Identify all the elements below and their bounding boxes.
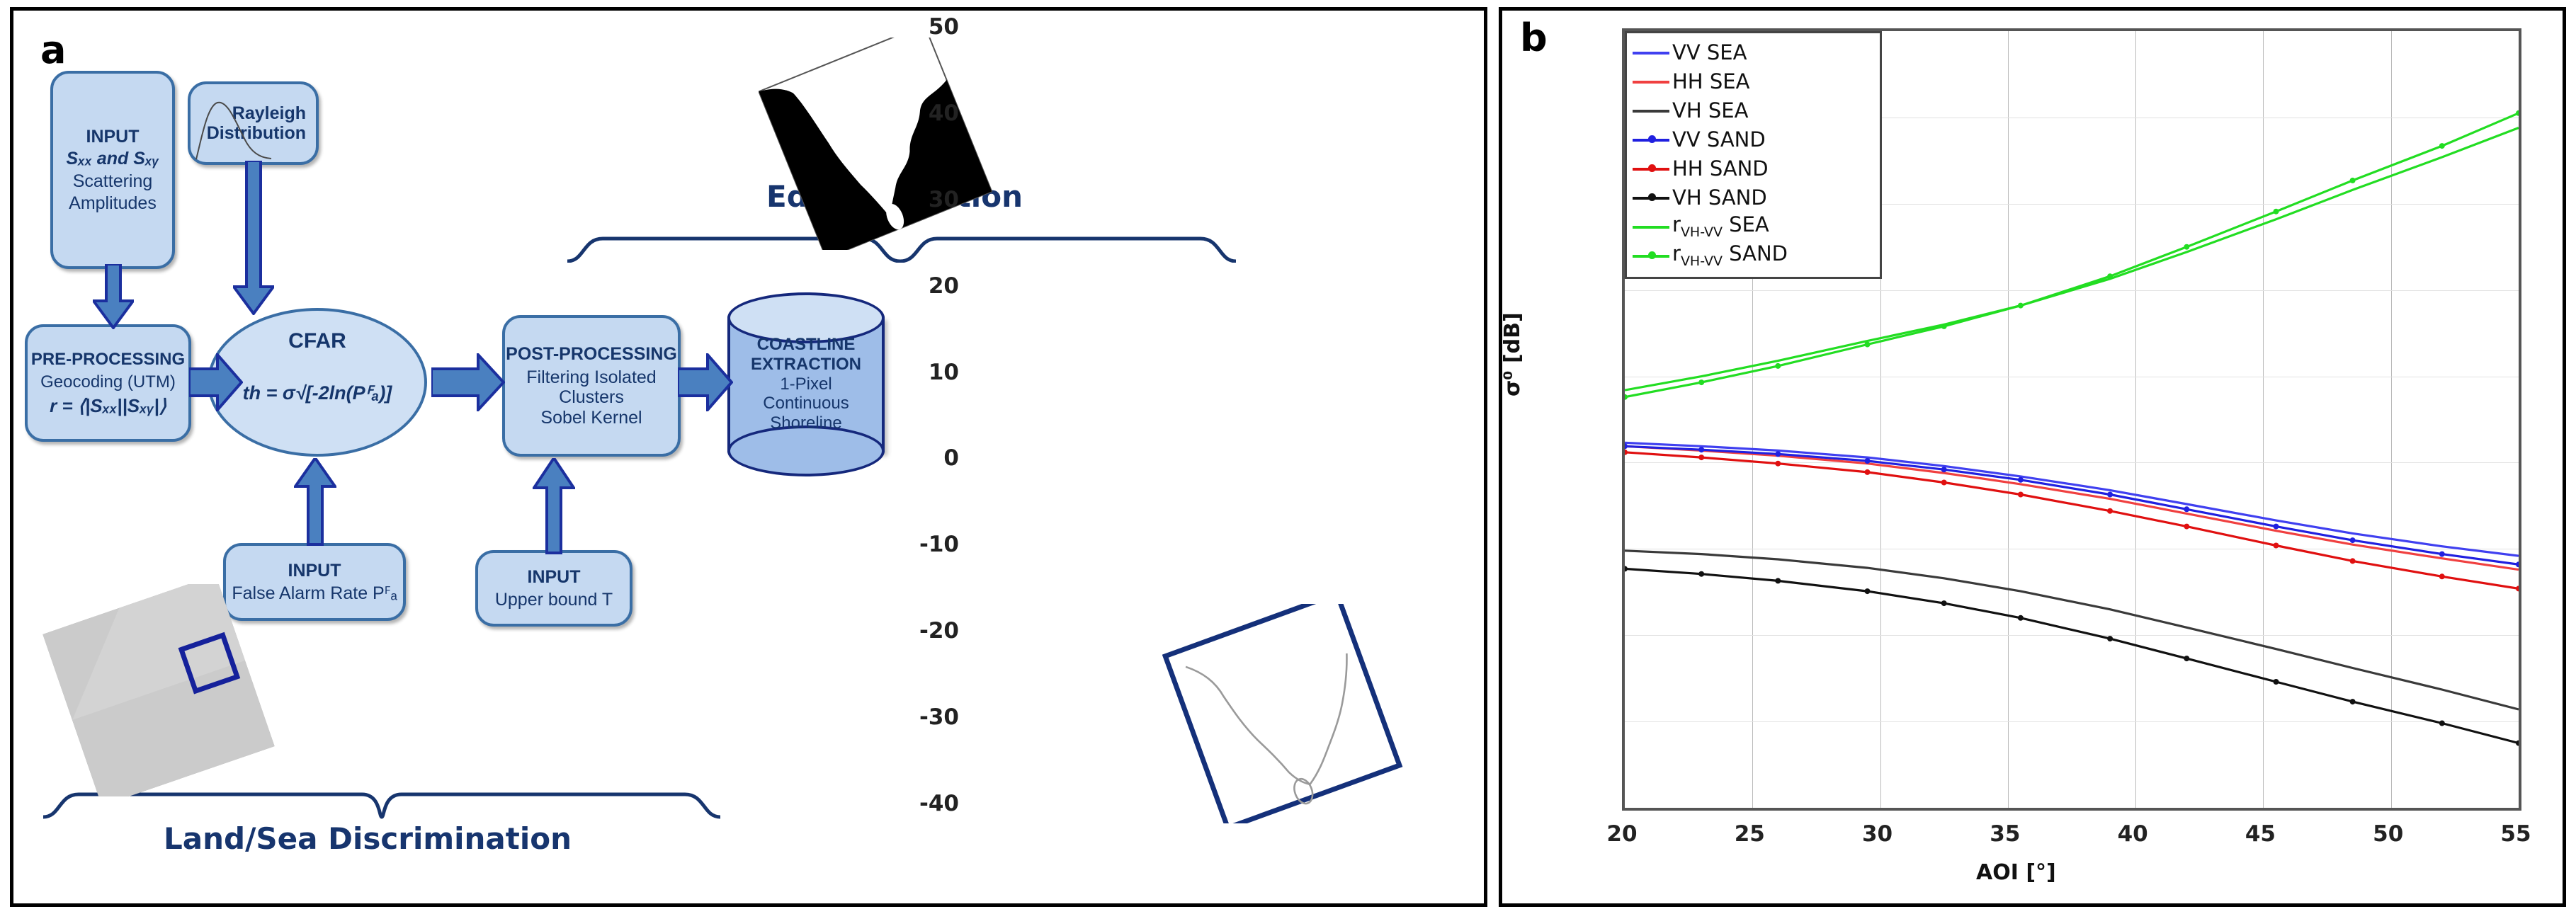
series-line — [1625, 446, 2519, 564]
box-post-processing: POST-PROCESSING Filtering Isolated Clust… — [502, 315, 681, 457]
series-marker — [1941, 480, 1947, 486]
legend-swatch — [1633, 219, 1669, 234]
y-tick-label: 10 — [895, 360, 959, 385]
series-marker — [2018, 492, 2024, 498]
legend-item[interactable]: rVH-VV SAND — [1633, 241, 1880, 270]
figure-root: a INPUT Sₓₓ and Sₓᵧ Scattering Amplitude… — [0, 0, 2576, 914]
chart-legend: VV SEAHH SEAVH SEAVV SANDHH SANDVH SANDr… — [1625, 31, 1882, 279]
series-marker — [1775, 578, 1781, 583]
series-marker — [2184, 244, 2189, 250]
legend-label: HH SEA — [1672, 69, 1749, 93]
series-marker — [2018, 477, 2024, 483]
series-marker — [2018, 303, 2024, 309]
legend-label: VH SAND — [1672, 185, 1767, 210]
coastline-line4: Continuous — [727, 394, 885, 413]
series-line — [1625, 452, 2519, 589]
series-marker — [2350, 699, 2356, 704]
series-marker — [1625, 443, 1628, 449]
x-tick-label: 40 — [2104, 821, 2161, 847]
panel-b-letter: b — [1520, 16, 1548, 60]
box-input-upper-bound: INPUT Upper bound T — [475, 550, 632, 627]
arrow-right-postprocessing-to-coastline — [678, 353, 733, 411]
series-marker — [1865, 469, 1871, 475]
series-marker — [2350, 537, 2356, 543]
box-rayleigh-distribution: Rayleigh Distribution — [188, 81, 319, 165]
input-upper-line2: Upper bound T — [495, 590, 613, 610]
legend-swatch — [1633, 103, 1669, 118]
coastline-line3: 1-Pixel — [727, 375, 885, 394]
box-pre-processing: PRE-PROCESSING Geocoding (UTM) r = ⟨|Sₓₓ… — [25, 324, 191, 442]
coastline-title1: COASTLINE — [727, 335, 885, 355]
coastline-line5: Shoreline — [727, 413, 885, 433]
series-marker — [2439, 552, 2445, 557]
legend-swatch — [1633, 74, 1669, 88]
legend-label: VV SEA — [1672, 40, 1747, 64]
series-marker — [2274, 679, 2279, 685]
panel-a: a INPUT Sₓₓ and Sₓᵧ Scattering Amplitude… — [10, 7, 1487, 907]
arrow-down-rayleigh-to-cfar — [233, 161, 274, 315]
legend-label: rVH-VV SAND — [1672, 241, 1788, 269]
series-marker — [1775, 451, 1781, 457]
series-marker — [2350, 558, 2356, 564]
coastline-title2: EXTRACTION — [727, 355, 885, 375]
series-marker — [2516, 741, 2519, 746]
series-marker — [1625, 450, 1628, 455]
y-tick-label: 0 — [895, 445, 959, 471]
legend-label: VH SEA — [1672, 98, 1748, 122]
arrow-down-input-to-preprocessing — [93, 264, 134, 329]
post-processing-line2: Filtering Isolated — [526, 367, 656, 388]
series-marker — [2274, 543, 2279, 549]
series-marker — [2018, 615, 2024, 621]
panel-a-letter: a — [40, 28, 66, 72]
input-amplitudes-title: INPUT — [86, 127, 140, 147]
series-marker — [1775, 461, 1781, 467]
chart-x-axis-label: AOI [°] — [1976, 860, 2056, 885]
series-line — [1625, 442, 2519, 556]
legend-item[interactable]: VH SAND — [1633, 183, 1880, 212]
series-line — [1625, 446, 2519, 569]
extracted-shoreline-image — [1162, 604, 1403, 823]
y-tick-label: -30 — [895, 704, 959, 730]
series-marker — [1698, 571, 1704, 577]
brace-label-land-sea: Land/Sea Discrimination — [164, 821, 572, 856]
arrow-right-cfar-to-postprocessing — [431, 353, 505, 411]
legend-swatch — [1633, 161, 1669, 176]
arrow-right-preprocessing-to-cfar — [189, 353, 243, 411]
series-marker — [2184, 524, 2189, 530]
chart-y-axis-label: σ⁰ [dB] — [1500, 312, 1525, 396]
series-marker — [2516, 561, 2519, 567]
legend-item[interactable]: HH SEA — [1633, 67, 1880, 96]
legend-item[interactable]: VV SAND — [1633, 125, 1880, 154]
series-marker — [2107, 492, 2113, 498]
legend-swatch — [1633, 45, 1669, 59]
series-marker — [2274, 524, 2279, 530]
legend-swatch — [1633, 190, 1669, 205]
cfar-title: CFAR — [288, 329, 346, 353]
series-marker — [1865, 458, 1871, 464]
series-marker — [2184, 506, 2189, 512]
series-marker — [1625, 566, 1628, 571]
series-marker — [1865, 342, 1871, 348]
series-marker — [1941, 324, 1947, 329]
x-tick-label: 35 — [1977, 821, 2033, 847]
x-tick-label: 30 — [1849, 821, 1906, 847]
series-marker — [1698, 447, 1704, 452]
sar-amplitude-image — [42, 584, 276, 796]
input-amplitudes-line4: Amplitudes — [69, 193, 157, 214]
series-marker — [2439, 573, 2445, 579]
post-processing-line4: Sobel Kernel — [540, 408, 642, 428]
box-input-amplitudes: INPUT Sₓₓ and Sₓᵧ Scattering Amplitudes — [50, 71, 175, 269]
input-amplitudes-line3: Scattering — [73, 171, 153, 192]
series-marker — [2107, 636, 2113, 641]
post-processing-title: POST-PROCESSING — [506, 344, 677, 365]
y-tick-label: 30 — [895, 187, 959, 212]
input-upper-title: INPUT — [528, 567, 581, 588]
legend-label: HH SAND — [1672, 156, 1769, 181]
y-tick-label: -20 — [895, 618, 959, 644]
series-marker — [2439, 721, 2445, 726]
binary-land-sea-mask-image — [759, 38, 992, 250]
cfar-formula: th = σ√[-2ln(Pꟳₐ)] — [243, 379, 392, 405]
input-pfa-title: INPUT — [288, 561, 341, 581]
legend-swatch — [1633, 249, 1669, 263]
legend-label: rVH-VV SEA — [1672, 212, 1769, 240]
legend-label: VV SAND — [1672, 127, 1766, 152]
arrow-up-upperbound-to-postprocessing — [533, 458, 575, 554]
legend-item[interactable]: VV SEA — [1633, 38, 1880, 67]
y-tick-label: 20 — [895, 273, 959, 299]
series-marker — [1775, 363, 1781, 369]
input-amplitudes-line2: Sₓₓ and Sₓᵧ — [66, 149, 159, 169]
pre-processing-title: PRE-PROCESSING — [31, 350, 185, 369]
series-marker — [1625, 394, 1628, 400]
x-tick-label: 50 — [2360, 821, 2417, 847]
y-tick-label: -40 — [895, 791, 959, 816]
y-tick-label: -10 — [895, 532, 959, 557]
series-marker — [1941, 467, 1947, 472]
x-tick-label: 55 — [2487, 821, 2544, 847]
arrow-up-pfa-to-cfar — [294, 458, 336, 546]
series-marker — [2439, 143, 2445, 149]
x-tick-label: 25 — [1721, 821, 1778, 847]
x-tick-label: 20 — [1594, 821, 1650, 847]
pre-processing-formula: r = ⟨|Sₓₓ||Sₓᵧ|⟩ — [50, 396, 166, 417]
box-coastline-extraction: COASTLINE EXTRACTION 1-Pixel Continuous … — [727, 292, 885, 476]
series-marker — [1941, 600, 1947, 606]
series-marker — [1698, 455, 1704, 460]
legend-item[interactable]: HH SAND — [1633, 154, 1880, 183]
legend-item[interactable]: VH SEA — [1633, 96, 1880, 125]
legend-item[interactable]: rVH-VV SEA — [1633, 212, 1880, 241]
legend-swatch — [1633, 132, 1669, 147]
pre-processing-line2: Geocoding (UTM) — [40, 372, 176, 392]
x-tick-label: 45 — [2232, 821, 2288, 847]
post-processing-line3: Clusters — [559, 387, 624, 408]
series-marker — [2184, 656, 2189, 661]
series-line — [1625, 569, 2519, 743]
series-marker — [2350, 178, 2356, 183]
series-marker — [2107, 508, 2113, 514]
rayleigh-curve-icon — [195, 94, 273, 162]
series-marker — [1698, 379, 1704, 385]
series-marker — [1865, 588, 1871, 594]
series-marker — [2107, 273, 2113, 279]
series-marker — [2274, 209, 2279, 215]
series-marker — [2516, 585, 2519, 591]
y-tick-label: 50 — [895, 14, 959, 40]
y-tick-label: 40 — [895, 101, 959, 126]
